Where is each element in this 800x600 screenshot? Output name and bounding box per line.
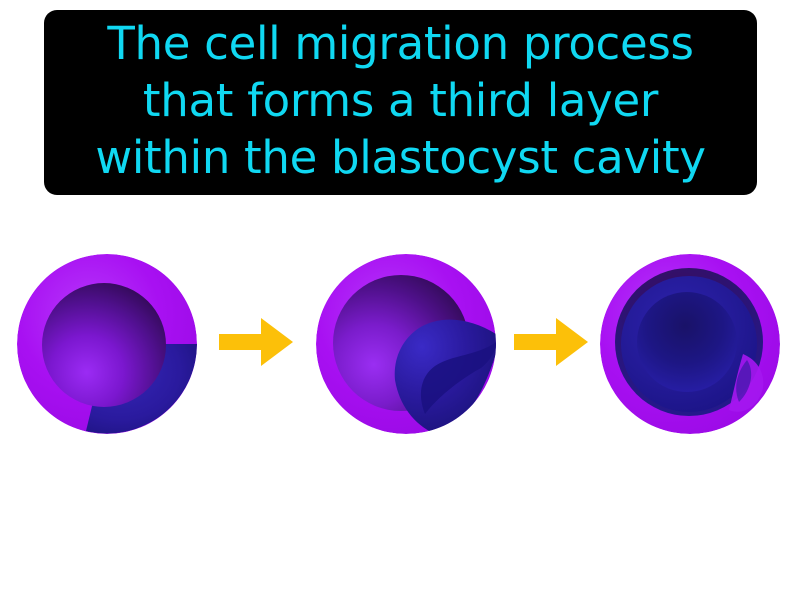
cell-stage-1-figure [14, 248, 200, 438]
definition-line-3: within the blastocyst cavity [95, 129, 705, 186]
gastrulation-illustration [0, 240, 800, 450]
definition-banner: The cell migration process that forms a … [44, 10, 757, 195]
arrow-1 [215, 314, 295, 370]
definition-line-1: The cell migration process [107, 15, 693, 72]
arrow-2 [510, 314, 590, 370]
definition-line-2: that forms a third layer [143, 72, 658, 129]
cell-stage-3-figure [597, 248, 783, 438]
blastocyst-stage-2-icon [313, 248, 499, 438]
blastocyst-stage-1-icon [14, 248, 200, 438]
cell-stage-2-figure [313, 248, 499, 438]
arrow-right-icon [510, 314, 590, 370]
arrow-right-icon [215, 314, 295, 370]
blastocyst-stage-3-icon [597, 248, 783, 438]
